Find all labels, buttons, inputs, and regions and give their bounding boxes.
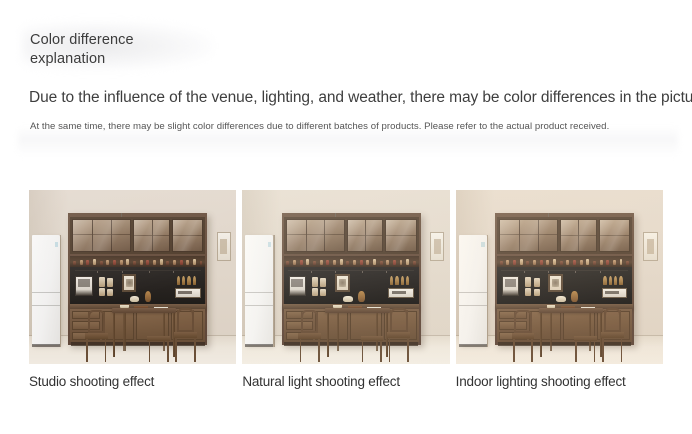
caption-natural-light: Natural light shooting effect [242, 372, 449, 396]
refrigerator [459, 235, 487, 345]
glass-cabinet-door [286, 219, 345, 252]
scene-studio [29, 190, 236, 364]
dining-chair [298, 310, 321, 362]
dark-backsplash-panel [284, 267, 419, 304]
kettle [343, 296, 352, 303]
refrigerator-door-seam [459, 305, 487, 306]
espresso-machine [289, 276, 307, 297]
bottle-group [602, 276, 624, 286]
storage-canister [320, 278, 326, 287]
dark-backsplash-panel [497, 267, 632, 304]
kitchen-appliance [388, 288, 414, 298]
upper-glass-cabinets [70, 217, 205, 254]
refrigerator-base [245, 344, 273, 347]
storage-canister [99, 288, 105, 296]
storage-canister [525, 288, 531, 296]
storage-canister [320, 289, 326, 296]
refrigerator [245, 235, 273, 345]
shelf-cups [73, 258, 202, 265]
glass-cabinet-door [599, 219, 630, 252]
decorative-vase [571, 291, 578, 302]
dining-chair [147, 315, 170, 362]
table-top [325, 308, 389, 312]
caption-indoor-lighting: Indoor lighting shooting effect [456, 372, 663, 396]
dining-chair [601, 308, 624, 362]
dark-backsplash-panel [70, 267, 205, 304]
table-top [112, 308, 176, 312]
table-leg [123, 313, 125, 351]
refrigerator [32, 235, 60, 345]
shelf-cups [500, 258, 629, 265]
dining-chair [574, 315, 597, 362]
storage-canister [107, 278, 113, 287]
cabinet-side-panel [60, 235, 61, 347]
framed-artwork [335, 274, 350, 292]
gallery-captions: Studio shooting effect Natural light sho… [29, 372, 663, 396]
storage-canister [525, 277, 531, 287]
table-leg [337, 313, 339, 351]
page-title: Color difference explanation [30, 31, 260, 69]
refrigerator-door-seam [32, 292, 60, 293]
glass-cabinet-door [72, 219, 131, 252]
table-top [539, 308, 603, 312]
open-display-shelf [284, 256, 419, 267]
glass-cabinet-door [133, 219, 170, 252]
glass-cabinet-door [499, 219, 558, 252]
upper-glass-cabinets [284, 217, 419, 254]
glass-cabinet-door [385, 219, 416, 252]
upper-glass-cabinets [497, 217, 632, 254]
dining-chair [174, 308, 197, 362]
wall-artwork [430, 232, 445, 262]
storage-canister [534, 278, 540, 287]
decorative-vase [145, 291, 152, 302]
utensil-rail [288, 270, 415, 271]
wall-artwork [643, 232, 658, 262]
framed-artwork [548, 274, 563, 292]
kettle [556, 296, 565, 303]
notice-sub-text: At the same time, there may be slight co… [30, 120, 680, 134]
refrigerator-door-seam [245, 305, 273, 306]
table-leg [327, 313, 329, 357]
kitchen-appliance [175, 288, 201, 298]
dining-chair [512, 310, 535, 362]
table-leg [550, 313, 552, 351]
espresso-machine [75, 276, 93, 297]
notice-lead-text: Due to the influence of the venue, light… [29, 88, 689, 108]
refrigerator-base [32, 344, 60, 347]
refrigerator-door-seam [32, 305, 60, 306]
refrigerator-label [55, 242, 58, 247]
cabinet-side-panel [487, 235, 488, 347]
scene-indoor-lighting [456, 190, 663, 364]
open-display-shelf [70, 256, 205, 267]
refrigerator-door-seam [245, 292, 273, 293]
open-display-shelf [497, 256, 632, 267]
kettle [130, 296, 139, 303]
refrigerator-label [481, 242, 484, 247]
gallery-photo-indoor-lighting[interactable] [456, 190, 663, 364]
dining-chair [85, 310, 108, 362]
framed-artwork [122, 274, 137, 292]
dining-chair [361, 315, 384, 362]
utensil-rail [501, 270, 628, 271]
espresso-machine [502, 276, 520, 297]
glass-cabinet-door [347, 219, 384, 252]
table-leg [113, 313, 115, 357]
storage-canister [312, 277, 318, 287]
shelf-cups [286, 258, 415, 265]
scene-natural-light [242, 190, 449, 364]
table-leg [540, 313, 542, 357]
decorative-vase [358, 291, 365, 302]
cabinet-side-panel [273, 235, 274, 347]
refrigerator-label [268, 242, 271, 247]
gallery-photo-studio[interactable] [29, 190, 236, 364]
photo-gallery [29, 190, 663, 364]
utensil-rail [75, 270, 202, 271]
dining-chair [387, 308, 410, 362]
refrigerator-door-seam [459, 292, 487, 293]
bottle-group [389, 276, 411, 286]
gallery-photo-natural-light[interactable] [242, 190, 449, 364]
refrigerator-base [459, 344, 487, 347]
storage-canister [99, 277, 105, 287]
kitchen-appliance [602, 288, 628, 298]
caption-studio: Studio shooting effect [29, 372, 236, 396]
glass-cabinet-door [172, 219, 203, 252]
storage-canister [312, 288, 318, 296]
wall-artwork [217, 232, 232, 262]
storage-canister [107, 289, 113, 296]
bottle-group [176, 276, 198, 286]
glass-cabinet-door [560, 219, 597, 252]
storage-canister [534, 289, 540, 296]
